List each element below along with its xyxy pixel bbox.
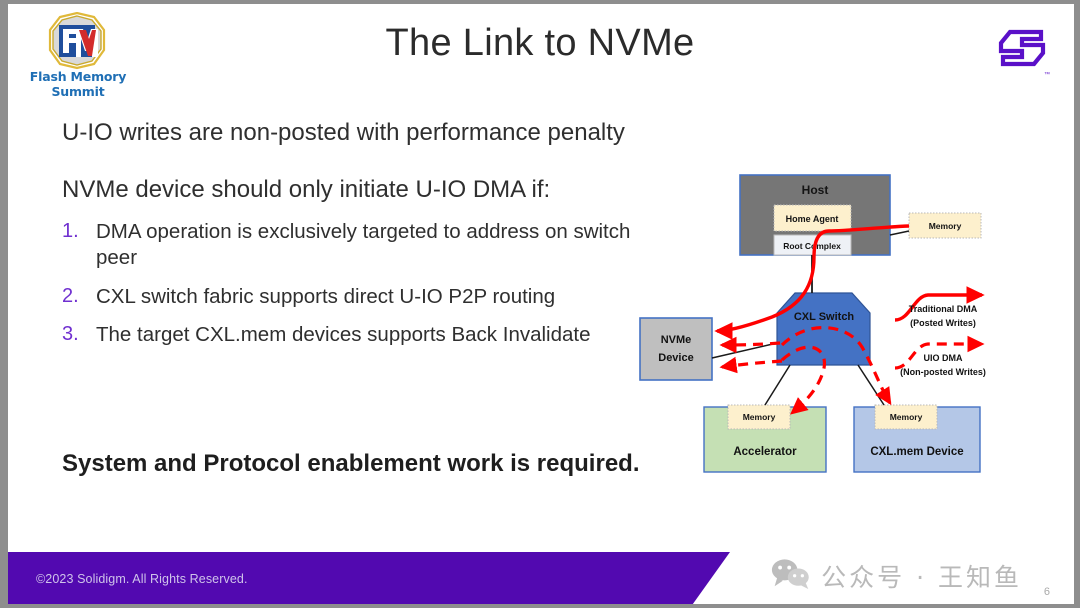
legend-uio-dma: UIO DMA (Non-posted Writes) xyxy=(895,344,986,377)
list-item: 3. The target CXL.mem devices supports B… xyxy=(62,322,662,348)
accelerator-memory-label: Memory xyxy=(743,412,776,422)
legend-sublabel-traditional: (Posted Writes) xyxy=(910,318,976,328)
wechat-icon xyxy=(771,558,811,594)
cxl-switch-block: CXL Switch xyxy=(777,293,870,365)
copyright-text: ©2023 Solidigm. All Rights Reserved. xyxy=(36,572,248,586)
host-label: Host xyxy=(802,183,829,197)
solidigm-logo-icon: ™ xyxy=(994,24,1050,80)
list-item-label: The target CXL.mem devices supports Back… xyxy=(96,322,662,348)
home-agent-block: Home Agent xyxy=(774,205,851,231)
cxl-switch-label: CXL Switch xyxy=(794,311,855,323)
architecture-diagram: Host Home Agent Root Complex Memory CXL … xyxy=(632,165,1062,495)
host-memory-label: Memory xyxy=(929,221,962,231)
root-complex-label: Root Complex xyxy=(783,241,841,251)
list-item-number: 1. xyxy=(62,219,96,270)
page-title: The Link to NVMe xyxy=(0,22,1080,65)
nvme-device-block: NVMe Device xyxy=(640,318,712,380)
legend-label-traditional: Traditional DMA xyxy=(909,304,978,314)
cxlmem-memory-label: Memory xyxy=(890,412,923,422)
wechat-watermark-text: 公众号 · 王知鱼 xyxy=(821,558,1022,594)
slide-inner: Flash Memory Summit The Link to NVMe ™ U… xyxy=(0,0,1080,608)
list-item-label: CXL switch fabric supports direct U-IO P… xyxy=(96,284,662,310)
nvme-device-label-2: Device xyxy=(658,352,693,364)
page-number: 6 xyxy=(1044,586,1050,598)
lead-statement-2: NVMe device should only initiate U-IO DM… xyxy=(62,175,662,206)
legend-label-uio: UIO DMA xyxy=(924,353,963,363)
accelerator-label: Accelerator xyxy=(733,446,797,458)
list-item: 1. DMA operation is exclusively targeted… xyxy=(62,219,662,270)
list-item-number: 3. xyxy=(62,322,96,348)
lead-statement-1: U-IO writes are non-posted with performa… xyxy=(62,118,662,149)
accelerator-memory-block: Memory xyxy=(728,405,790,429)
legend-sublabel-uio: (Non-posted Writes) xyxy=(900,367,986,377)
legend-traditional-dma: Traditional DMA (Posted Writes) xyxy=(895,295,982,328)
svg-text:™: ™ xyxy=(1044,71,1050,78)
list-item-label: DMA operation is exclusively targeted to… xyxy=(96,219,662,270)
conditions-list: 1. DMA operation is exclusively targeted… xyxy=(62,219,662,348)
fms-logo-label: Flash Memory Summit xyxy=(18,69,138,99)
cxlmem-device-label: CXL.mem Device xyxy=(870,446,963,458)
wechat-watermark: 公众号 · 王知鱼 xyxy=(771,558,1022,594)
body-content: U-IO writes are non-posted with performa… xyxy=(62,118,662,361)
list-item-number: 2. xyxy=(62,284,96,310)
cxlmem-memory-block: Memory xyxy=(875,405,937,429)
home-agent-label: Home Agent xyxy=(786,214,839,224)
list-item: 2. CXL switch fabric supports direct U-I… xyxy=(62,284,662,310)
nvme-device-label-1: NVMe xyxy=(661,334,692,346)
slide: Flash Memory Summit The Link to NVMe ™ U… xyxy=(0,0,1080,608)
host-memory-block: Memory xyxy=(909,213,981,238)
closing-statement: System and Protocol enablement work is r… xyxy=(62,448,662,479)
